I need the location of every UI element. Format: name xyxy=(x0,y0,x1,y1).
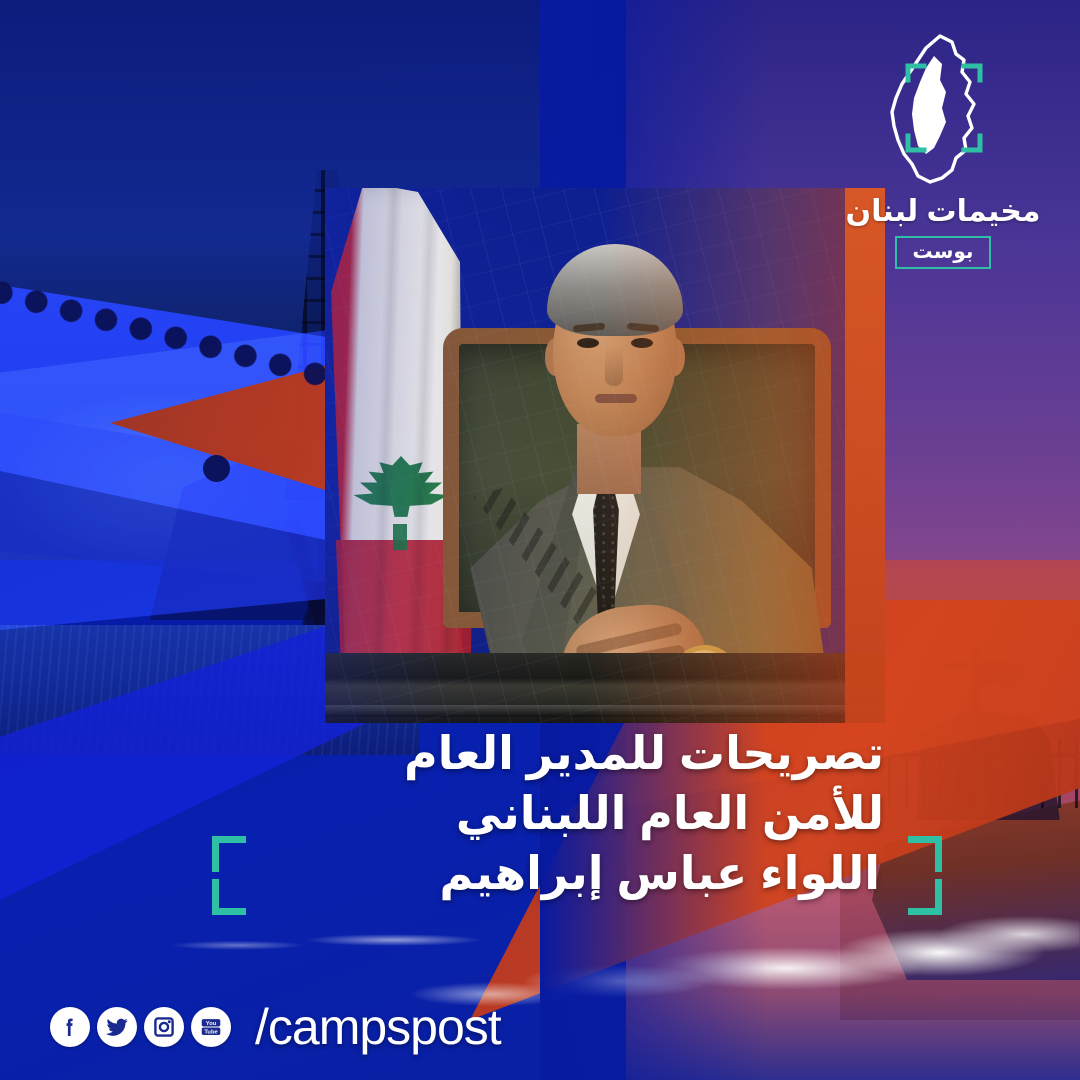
facebook-icon[interactable] xyxy=(50,1007,90,1047)
distant-wake-spray xyxy=(30,918,550,962)
footer: You Tube /campspost xyxy=(50,1002,501,1052)
headline-line-3-wrap: اللواء عباس إبراهيم xyxy=(284,844,884,904)
brand-logo[interactable]: مخيمات لبنان بوست xyxy=(828,30,1058,269)
headline-line-2: للأمن العام اللبناني xyxy=(284,784,884,844)
logo-subtitle: بوست xyxy=(895,236,992,269)
social-handle[interactable]: /campspost xyxy=(255,1002,501,1052)
bracket-bottom-right-icon xyxy=(908,879,942,915)
photo-warm-grade xyxy=(325,188,885,723)
svg-text:Tube: Tube xyxy=(204,1030,217,1036)
social-media-poster: مخيمات لبنان بوست تصريحات للمدير العام ل… xyxy=(0,0,1080,1080)
headline-line-1: تصريحات للمدير العام xyxy=(284,724,884,784)
social-icons: You Tube xyxy=(50,1007,231,1047)
instagram-icon[interactable] xyxy=(144,1007,184,1047)
headline: تصريحات للمدير العام للأمن العام اللبنان… xyxy=(284,724,884,903)
youtube-icon[interactable]: You Tube xyxy=(191,1007,231,1047)
bracket-bottom-left-icon xyxy=(212,879,246,915)
logo-title: مخيمات لبنان xyxy=(828,194,1058,229)
svg-text:You: You xyxy=(206,1021,217,1027)
portrait-photo xyxy=(325,188,885,723)
headline-line-3: اللواء عباس إبراهيم xyxy=(439,847,880,899)
twitter-icon[interactable] xyxy=(97,1007,137,1047)
perforation-dot xyxy=(203,455,230,482)
lebanon-map-icon xyxy=(868,30,1018,190)
bracket-top-left-icon xyxy=(212,836,246,872)
bracket-top-right-icon xyxy=(908,836,942,872)
